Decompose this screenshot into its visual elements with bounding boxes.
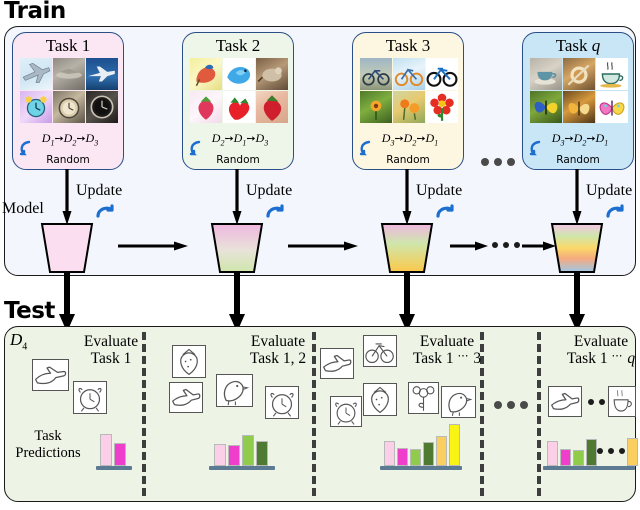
task-card-1-title: Task 1 [13, 36, 123, 56]
sketch-cup-q [608, 386, 636, 417]
bar-clock [228, 445, 240, 466]
thumb-butterfly-photo [530, 91, 562, 123]
thumb-bird-photo [256, 58, 288, 90]
task-card-q-random-label: Random [523, 154, 633, 166]
thumb-bird-painting [190, 58, 222, 90]
arrow-train-to-test-2 [227, 272, 247, 332]
thumb-strawberry-photo [256, 91, 288, 123]
sketch-airplane-3 [320, 348, 354, 379]
arrow-dots-to-model-q [522, 240, 556, 252]
thumb-cup-clipart [596, 58, 628, 90]
arrow-model-2-to-3 [288, 240, 358, 252]
task-card-1-thumbnails [20, 58, 118, 123]
arrow-train-to-test-q [567, 272, 587, 332]
thumb-airplane-sketch [20, 58, 52, 90]
thumb-alarm-clock-cartoon [20, 91, 52, 123]
bar-bird [242, 435, 254, 466]
task-card-2-thumbnails [190, 58, 288, 123]
bar-strawberry [423, 442, 434, 466]
bar-airplane [384, 441, 395, 466]
bar-chart-1 [100, 428, 126, 466]
arrow-card-to-model-1 [62, 169, 72, 225]
task-card-3-thumbnails [360, 58, 458, 123]
sketch-bird-3 [441, 386, 476, 418]
bar-chart-2 [214, 430, 268, 466]
thumb-flower-clipart [426, 91, 458, 123]
bar-clock [397, 448, 408, 466]
refresh-icon-1 [94, 202, 116, 224]
thumb-wall-clock-photo [86, 91, 118, 123]
task-card-1[interactable]: Task 1 D1➙D2➙D3 Random [12, 32, 124, 170]
bar-chart-q [547, 423, 640, 466]
update-label-1: Update [76, 182, 122, 200]
test-section-title: Test [4, 298, 55, 324]
sketch-flower-3 [408, 382, 439, 414]
sketch-strawberry-2 [172, 345, 206, 378]
bar-cup-a [627, 438, 638, 466]
sketch-bird-2 [216, 374, 253, 407]
model-stage-2[interactable] [202, 222, 272, 274]
update-label-3: Update [416, 182, 462, 200]
sketch-alarm-clock-2 [265, 386, 299, 419]
task-card-q-title: Task q [523, 36, 633, 56]
bar-chart-3-baseline [380, 466, 462, 470]
refresh-icon-2 [264, 202, 286, 224]
bar-bird [573, 450, 584, 466]
thumb-cup-photo [530, 58, 562, 90]
bar-bicycle [436, 436, 447, 466]
thumb-butterfly-clipart [596, 91, 628, 123]
bar-chart-q-baseline [543, 466, 635, 470]
bar-airplane [214, 444, 226, 466]
test-dataset-label: D4 [10, 330, 27, 352]
bar-bird [410, 449, 421, 466]
arrow-train-to-test-3 [397, 272, 417, 332]
test-divider-4 [537, 332, 541, 496]
task-card-q-thumbnails [530, 58, 628, 123]
thumb-pocket-watch-photo [53, 91, 85, 123]
task-card-2-title: Task 2 [183, 36, 293, 56]
arrow-train-to-test-1 [57, 272, 77, 332]
bar-clock [560, 449, 571, 466]
arrow-model-3-to-dots [450, 240, 488, 252]
thumb-airplane-photo-blue [86, 58, 118, 90]
task-card-2-sequence: D2➙D1➙D3 [189, 131, 291, 147]
bar-airplane [547, 441, 558, 466]
thumb-strawberry-painting [190, 91, 222, 123]
model-stage-3[interactable] [372, 222, 442, 274]
bar-strawberry [586, 439, 597, 466]
model-label: Model [2, 200, 44, 218]
sketch-airplane-1 [32, 359, 69, 391]
bar-chart-1-baseline [96, 466, 132, 470]
train-section-title: Train [4, 0, 66, 24]
thumb-butterfly-painting [563, 91, 595, 123]
bar-chart-q-ellipsis [597, 448, 625, 454]
bar-flower [449, 424, 460, 466]
task-card-3-random-label: Random [353, 154, 463, 166]
bar-chart-3 [384, 423, 460, 466]
task-card-3-sequence: D3➙D2➙D1 [359, 131, 461, 147]
sketch-airplane-q [548, 386, 582, 417]
thumb-bicycle-photo [360, 58, 392, 90]
eval-label-3: Evaluate Task 1 ⋯ 3 [398, 333, 496, 367]
thumb-bird-clipart [223, 58, 255, 90]
arrow-card-to-model-3 [402, 169, 412, 225]
test-group-ellipsis [494, 401, 528, 409]
task-card-3[interactable]: Task 3 D3➙D2➙D1 Random [352, 32, 464, 170]
sketch-strawberry-3 [363, 383, 397, 416]
sketch-airplane-2 [169, 382, 203, 413]
arrow-model-1-to-2 [118, 240, 188, 252]
thumb-cup-painting [563, 58, 595, 90]
eval-label-2: Evaluate Task 1, 2 [228, 333, 328, 367]
update-label-2: Update [246, 182, 292, 200]
arrow-card-to-model-2 [232, 169, 242, 225]
task-card-3-title: Task 3 [353, 36, 463, 56]
thumb-bicycle-painting [393, 58, 425, 90]
task-predictions-label: Task Predictions [8, 428, 88, 461]
sketch-bicycle-3 [363, 335, 397, 367]
task-ellipsis [481, 158, 515, 166]
refresh-icon-q [604, 202, 626, 224]
arrow-card-to-model-q [572, 169, 582, 225]
bar-chart-2-baseline [209, 466, 275, 470]
task-card-2-random-label: Random [183, 154, 293, 166]
task-card-1-sequence: D1➙D2➙D3 [19, 131, 121, 147]
task-card-2[interactable]: Task 2 D2➙D1➙D3 Random [182, 32, 294, 170]
bar-airplane [100, 434, 112, 466]
task-card-q[interactable]: Task q D3➙D2➙D1 Random [522, 32, 634, 170]
refresh-icon-3 [434, 202, 456, 224]
thumb-strawberry-clipart [223, 91, 255, 123]
sketch-alarm-clock-1 [73, 381, 107, 414]
thumb-flower-photo [360, 91, 392, 123]
eval-label-q: Evaluate Task 1 ⋯ q [552, 333, 640, 367]
model-ellipsis [492, 242, 520, 248]
task-card-1-random-label: Random [13, 154, 123, 166]
update-label-q: Update [586, 182, 632, 200]
eval-label-1: Evaluate Task 1 [66, 333, 156, 367]
bar-clock [114, 443, 126, 466]
task-card-q-sequence: D3➙D2➙D1 [529, 131, 631, 147]
thumb-bicycle-clipart [426, 58, 458, 90]
model-stage-1[interactable] [32, 222, 102, 274]
thumb-flower-painting [393, 91, 425, 123]
sketch-alarm-clock-3 [330, 396, 362, 427]
bar-strawberry [256, 441, 268, 466]
thumb-airplane-photo-gray [53, 58, 85, 90]
